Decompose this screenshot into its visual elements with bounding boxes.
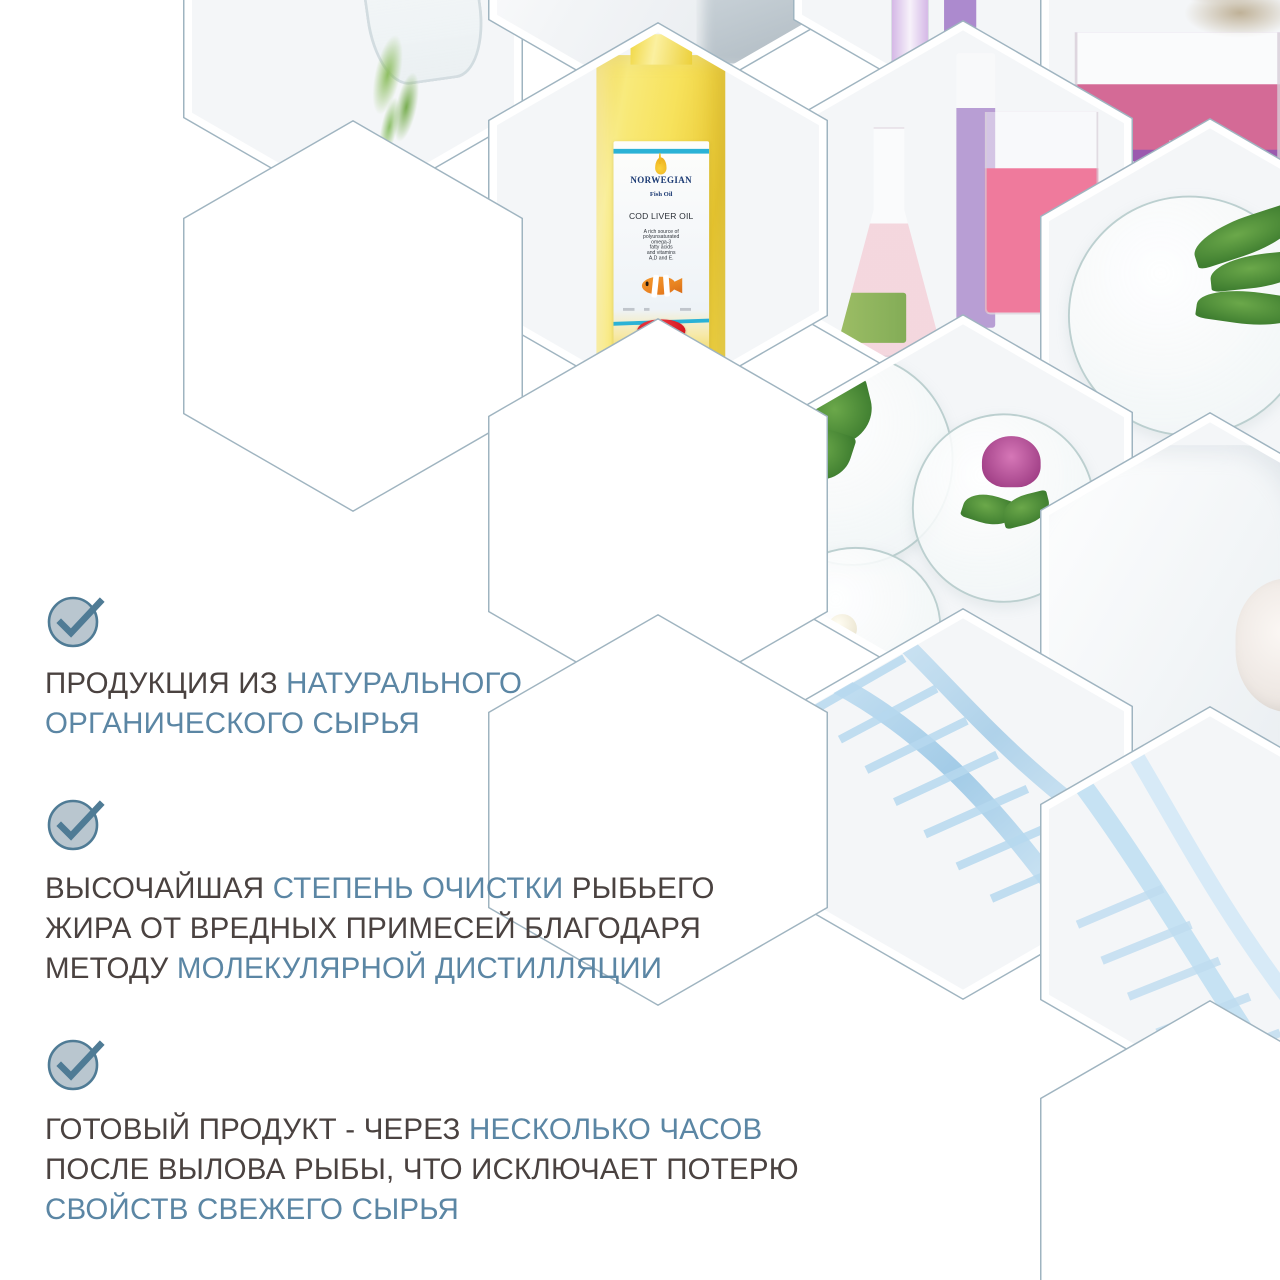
bottle-brand-line2: Fish Oil	[614, 191, 709, 199]
bottle-brand-line1: NORWEGIAN	[614, 176, 709, 185]
check-circle-icon	[44, 1033, 108, 1097]
bottle-description: A rich source of polyunsaturated omega-3…	[614, 230, 709, 262]
conical-flask-icon	[834, 127, 943, 357]
bottle-product-name: COD LIVER OIL	[614, 211, 709, 220]
clownfish-icon	[639, 272, 683, 299]
feature-text-2: ВЫСОЧАЙШАЯ СТЕПЕНЬ ОЧИСТКИ РЫБЬЕГО ЖИРА …	[45, 869, 715, 989]
hex-blank-left	[183, 120, 523, 512]
hexagon-collage: NORWEGIAN Fish Oil COD LIVER OIL A rich …	[0, 0, 1280, 1280]
check-circle-icon	[44, 793, 108, 857]
feature-text-1: ПРОДУКЦИЯ ИЗ НАТУРАЛЬНОГО ОРГАНИЧЕСКОГО …	[45, 664, 522, 744]
feature-text-3: ГОТОВЫЙ ПРОДУКТ - ЧЕРЕЗ НЕСКОЛЬКО ЧАСОВ …	[45, 1110, 799, 1230]
check-circle-icon	[44, 590, 108, 654]
poster-canvas: NORWEGIAN Fish Oil COD LIVER OIL A rich …	[0, 0, 1280, 1280]
hex-blank-bottom-right	[1040, 1000, 1280, 1280]
